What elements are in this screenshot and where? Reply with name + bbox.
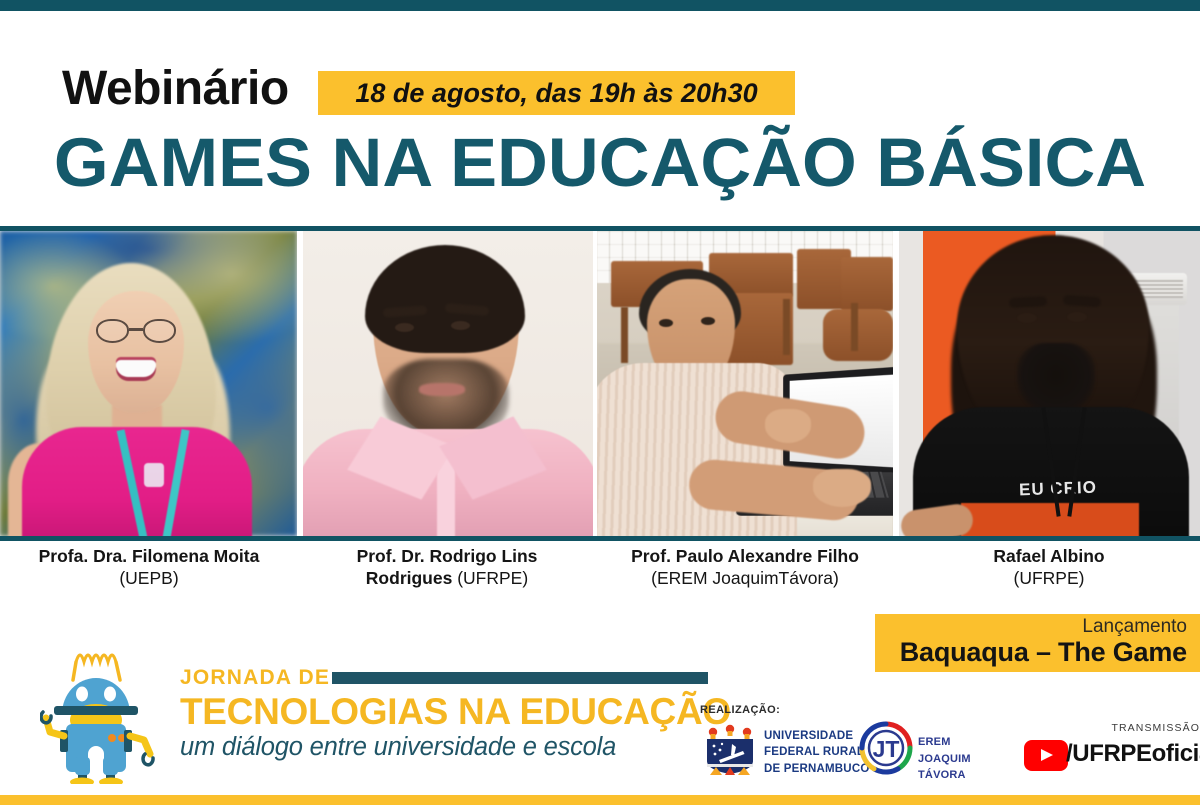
- poster-header: Webinário 18 de agosto, das 19h às 20h30…: [0, 11, 1200, 226]
- speaker-name: Prof. Dr. Rodrigo Lins: [300, 545, 594, 567]
- speaker-name-line2: Rodrigues: [366, 568, 453, 588]
- bottom-rule: [0, 795, 1200, 805]
- speaker-photo-2: [303, 231, 593, 536]
- eye-right: [1067, 312, 1087, 322]
- pendant: [144, 463, 164, 487]
- speaker-affiliation: (UFRPE): [898, 567, 1200, 589]
- page-title: GAMES NA EDUCAÇÃO BÁSICA: [0, 123, 1200, 202]
- jt-erem-icon: JT: [858, 720, 914, 776]
- chair-leg-4: [851, 303, 858, 351]
- speaker-captions: Profa. Dra. Filomena Moita (UEPB) Prof. …: [0, 541, 1200, 605]
- realizacao-block: REALIZAÇÃO: UNIVERSIDADE FEDERAL RURAL D…: [700, 704, 1000, 794]
- jornada-tagline: um diálogo entre universidade e escola: [180, 733, 720, 762]
- desk-6: [823, 309, 893, 361]
- eye-left: [659, 319, 673, 327]
- speaker-affiliation: (UFRPE): [457, 568, 528, 588]
- speaker-name-line2-affiliation: Rodrigues (UFRPE): [300, 567, 594, 589]
- date-badge-text: 18 de agosto, das 19h às 20h30: [355, 78, 757, 109]
- eye-right: [701, 317, 715, 325]
- speaker-affiliation: (EREM JoaquimTávora): [596, 567, 894, 589]
- date-badge: 18 de agosto, das 19h às 20h30: [318, 71, 795, 115]
- speaker-photo-3: [597, 231, 893, 536]
- eye-right: [451, 321, 470, 330]
- chair-leg-1: [621, 307, 628, 363]
- robot-mascot-icon: [40, 632, 166, 784]
- desk-4: [841, 257, 893, 311]
- top-rule: [0, 0, 1200, 11]
- jt-line2: JOAQUIM TÁVORA: [918, 751, 1000, 784]
- kicker-webinario: Webinário: [62, 61, 289, 116]
- youtube-handle[interactable]: /UFRPEoficial: [1066, 740, 1200, 768]
- speaker-photo-4: EU CRIO: [899, 231, 1200, 536]
- svg-text:JT: JT: [873, 736, 900, 762]
- launch-game-title: Baquaqua – The Game: [875, 637, 1187, 668]
- game-launch-badge: Lançamento Baquaqua – The Game: [875, 614, 1200, 672]
- mouth: [419, 383, 465, 396]
- speaker-caption-1: Profa. Dra. Filomena Moita (UEPB): [0, 545, 298, 589]
- speaker-caption-4: Rafael Albino (UFRPE): [898, 545, 1200, 589]
- eye-left: [1017, 313, 1037, 323]
- eyebrow-left: [1009, 296, 1047, 308]
- launch-label: Lançamento: [875, 617, 1187, 637]
- jornada-line2: TECNOLOGIAS NA EDUCAÇÃO: [180, 691, 720, 732]
- photo-4-canvas: EU CRIO: [899, 231, 1200, 536]
- transmissao-block: TRANSMISSÃO /UFRPEoficial: [1010, 722, 1200, 784]
- webinar-poster: Webinário 18 de agosto, das 19h às 20h30…: [0, 0, 1200, 805]
- jt-line1: EREM: [918, 734, 1000, 751]
- chair-leg-3: [783, 299, 790, 355]
- speaker-name: Prof. Paulo Alexandre Filho: [596, 545, 894, 567]
- speaker-name: Rafael Albino: [898, 545, 1200, 567]
- eye-left: [395, 323, 414, 332]
- speaker-photo-1: [0, 231, 297, 536]
- jornada-line1-row: JORNADA DE: [180, 666, 720, 690]
- photo-3-canvas: [597, 231, 893, 536]
- ufrpe-line3: DE PERNAMBUCO: [764, 761, 869, 777]
- tshirt-graphic-band: [961, 503, 1139, 536]
- speaker-caption-2: Prof. Dr. Rodrigo Lins Rodrigues (UFRPE): [300, 545, 594, 589]
- ufrpe-line1: UNIVERSIDADE: [764, 728, 869, 744]
- ufrpe-crest-icon: [702, 720, 758, 776]
- jornada-rule: [332, 672, 708, 684]
- speaker-affiliation: (UEPB): [0, 567, 298, 589]
- youtube-icon[interactable]: [1024, 740, 1068, 771]
- jornada-logo: JORNADA DE TECNOLOGIAS NA EDUCAÇÃO um di…: [40, 628, 680, 788]
- ufrpe-line2: FEDERAL RURAL: [764, 744, 869, 760]
- mouth: [116, 360, 156, 377]
- transmissao-label: TRANSMISSÃO: [1111, 722, 1200, 734]
- jt-name: EREM JOAQUIM TÁVORA: [918, 734, 1000, 784]
- realizacao-label: REALIZAÇÃO:: [700, 704, 780, 716]
- photo-1-canvas: [0, 231, 297, 536]
- ufrpe-name: UNIVERSIDADE FEDERAL RURAL DE PERNAMBUCO: [764, 728, 869, 777]
- speaker-name: Profa. Dra. Filomena Moita: [0, 545, 298, 567]
- beard: [1017, 343, 1095, 415]
- hand-upper: [765, 409, 811, 443]
- jornada-line1: JORNADA DE: [180, 666, 330, 690]
- hand-lower: [813, 469, 871, 507]
- speaker-photo-strip: EU CRIO: [0, 231, 1200, 536]
- jornada-wordmark: JORNADA DE TECNOLOGIAS NA EDUCAÇÃO um di…: [180, 666, 720, 762]
- eyeglasses-icon: [96, 319, 176, 345]
- speaker-caption-3: Prof. Paulo Alexandre Filho (EREM Joaqui…: [596, 545, 894, 589]
- photo-2-canvas: [303, 231, 593, 536]
